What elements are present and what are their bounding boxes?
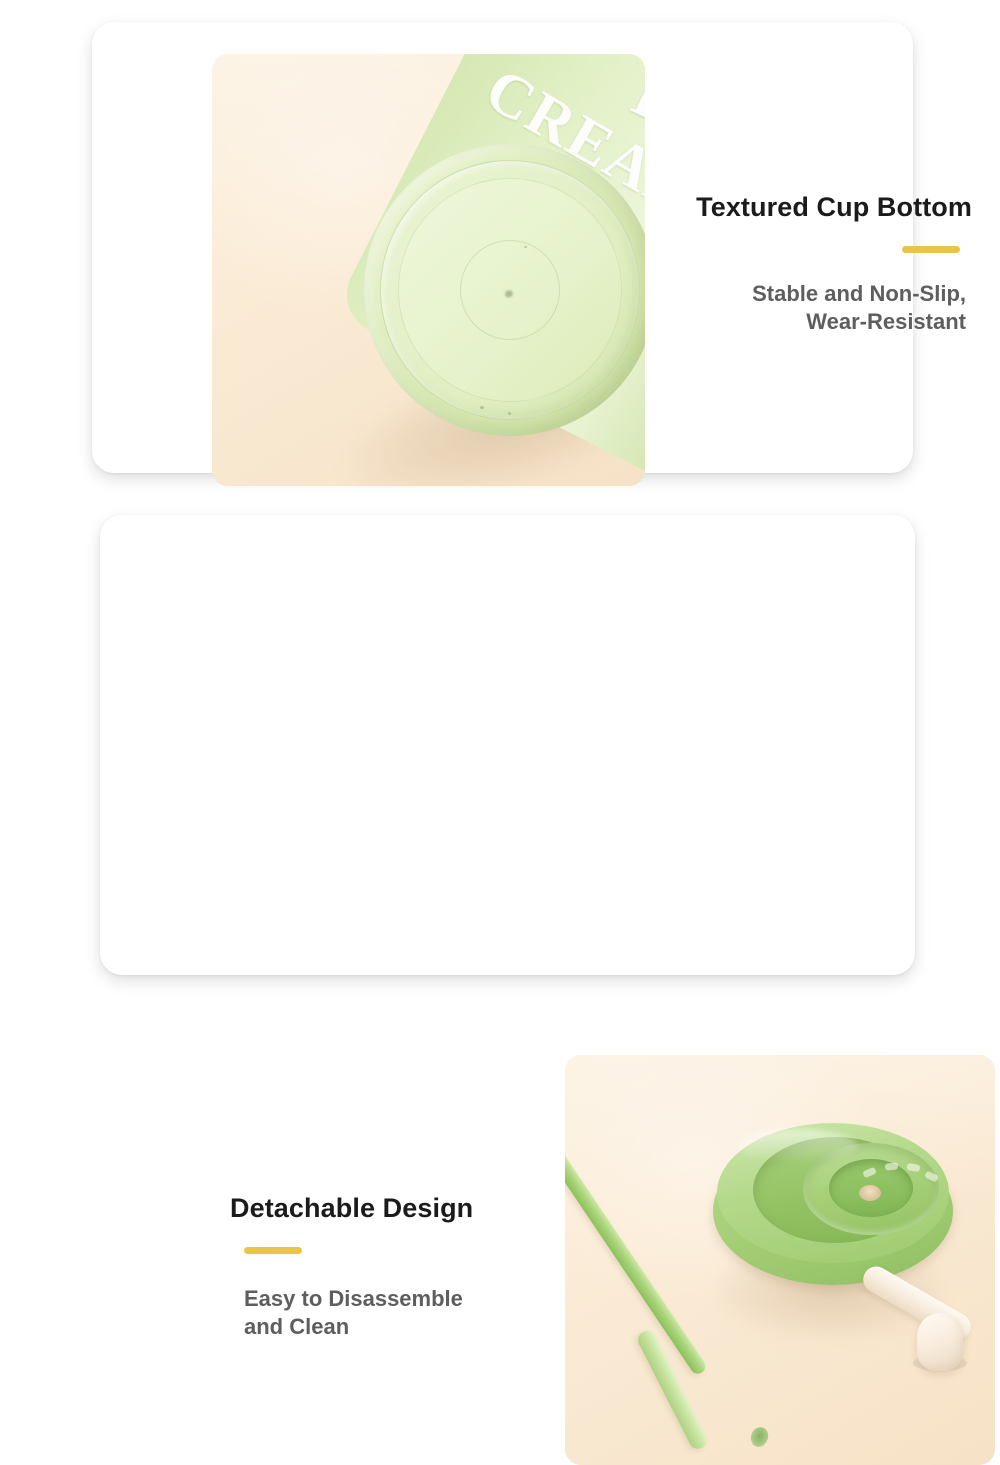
lid-straw-hole [859, 1185, 881, 1201]
feature-text-block-1: Textured Cup Bottom Stable and Non-Slip,… [612, 192, 972, 335]
accent-divider [244, 1247, 302, 1254]
lid-highlight [737, 1129, 857, 1163]
lid-bore [829, 1159, 913, 1217]
lid-outer-flange-top [717, 1123, 949, 1263]
feature-card-detachable-design[interactable]: Detachable Design Easy to Disassemble an… [100, 515, 915, 975]
feature-card-textured-cup-bottom[interactable]: ICE CREAM Textured Cup Bottom Stable and… [92, 22, 913, 473]
feature-subtitle-line-2: and Clean [244, 1314, 349, 1339]
detachable-parts-photo[interactable] [565, 1055, 995, 1465]
silicone-plug [917, 1313, 963, 1371]
feature-subtitle-line-2: Wear-Resistant [806, 309, 966, 334]
cup-surface-speck [480, 406, 484, 409]
feature-subtitle-line-1: Stable and Non-Slip, [752, 281, 966, 306]
lid-notch [924, 1171, 939, 1183]
lid-notch [885, 1162, 899, 1170]
lid-notch [862, 1167, 877, 1179]
accent-divider [902, 246, 960, 253]
feature-subtitle-line-1: Easy to Disassemble [244, 1286, 463, 1311]
feature-subtitle: Stable and Non-Slip, Wear-Resistant [612, 280, 972, 335]
product-feature-board: ICE CREAM Textured Cup Bottom Stable and… [0, 0, 1000, 1000]
feature-subtitle: Easy to Disassemble and Clean [230, 1285, 570, 1340]
feature-title: Detachable Design [230, 1193, 570, 1224]
lid-notch [906, 1163, 920, 1172]
cup-illustration: ICE CREAM [212, 54, 645, 486]
feature-text-block-2: Detachable Design Easy to Disassemble an… [230, 1193, 570, 1340]
cup-bottom-photo[interactable]: ICE CREAM [212, 54, 645, 486]
cup-surface-speck [508, 412, 511, 415]
feature-title: Textured Cup Bottom [612, 192, 972, 223]
cup-surface-speck [524, 246, 527, 248]
bottle-lid [713, 1123, 953, 1283]
